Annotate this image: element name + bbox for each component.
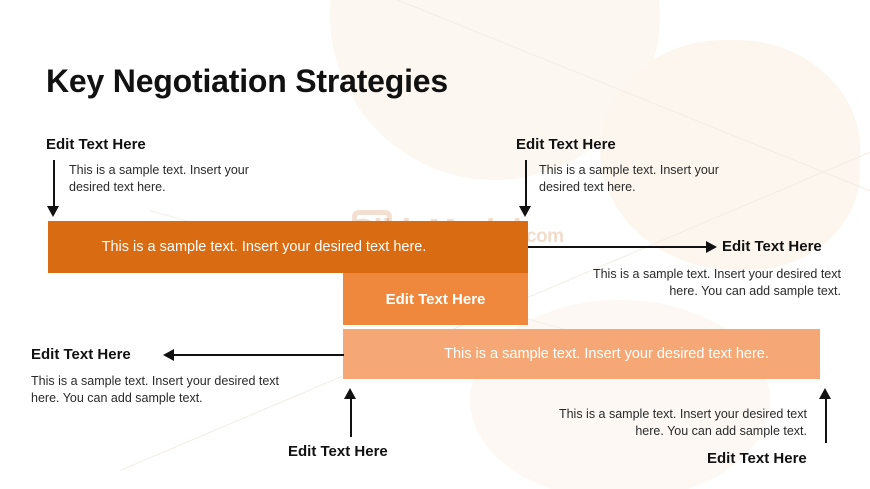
- bar-light[interactable]: This is a sample text. Insert your desir…: [343, 329, 820, 379]
- bar-mid-label: Edit Text Here: [386, 291, 486, 308]
- bar-mid[interactable]: Edit Text Here: [343, 273, 528, 325]
- arrow-up-bottom-center-head-icon: [344, 388, 356, 399]
- callout-left-label[interactable]: Edit Text Here: [31, 346, 131, 363]
- callout-left-body[interactable]: This is a sample text. Insert your desir…: [31, 373, 291, 408]
- arrow-up-bottom-right-line: [825, 393, 827, 443]
- bar-light-label: This is a sample text. Insert your desir…: [444, 346, 769, 362]
- bar-dark-label: This is a sample text. Insert your desir…: [102, 239, 427, 255]
- callout-top-left-label[interactable]: Edit Text Here: [46, 136, 146, 153]
- callout-bottom-right-body[interactable]: This is a sample text. Insert your desir…: [552, 406, 807, 441]
- arrow-right-head-icon: [706, 241, 717, 253]
- arrow-left-head-icon: [163, 349, 174, 361]
- background-blob-right: [600, 40, 860, 270]
- arrow-down-top-right-line: [525, 160, 527, 206]
- page-title: Key Negotiation Strategies: [46, 63, 448, 100]
- arrow-down-top-right-head-icon: [519, 206, 531, 217]
- slide-canvas: SlideModel.com Key Negotiation Strategie…: [0, 0, 870, 489]
- callout-top-right-label[interactable]: Edit Text Here: [516, 136, 616, 153]
- arrow-right-line: [528, 246, 708, 248]
- callout-bottom-center-label[interactable]: Edit Text Here: [288, 443, 388, 460]
- bar-dark[interactable]: This is a sample text. Insert your desir…: [48, 221, 528, 273]
- callout-right-label[interactable]: Edit Text Here: [722, 238, 822, 255]
- arrow-left-line: [170, 354, 344, 356]
- arrow-up-bottom-center-line: [350, 393, 352, 437]
- arrow-up-bottom-right-head-icon: [819, 388, 831, 399]
- callout-top-right-body[interactable]: This is a sample text. Insert your desir…: [539, 162, 739, 197]
- callout-right-body[interactable]: This is a sample text. Insert your desir…: [566, 266, 841, 301]
- arrow-down-top-left-head-icon: [47, 206, 59, 217]
- callout-top-left-body[interactable]: This is a sample text. Insert your desir…: [69, 162, 269, 197]
- arrow-down-top-left-line: [53, 160, 55, 206]
- callout-bottom-right-label[interactable]: Edit Text Here: [707, 450, 807, 467]
